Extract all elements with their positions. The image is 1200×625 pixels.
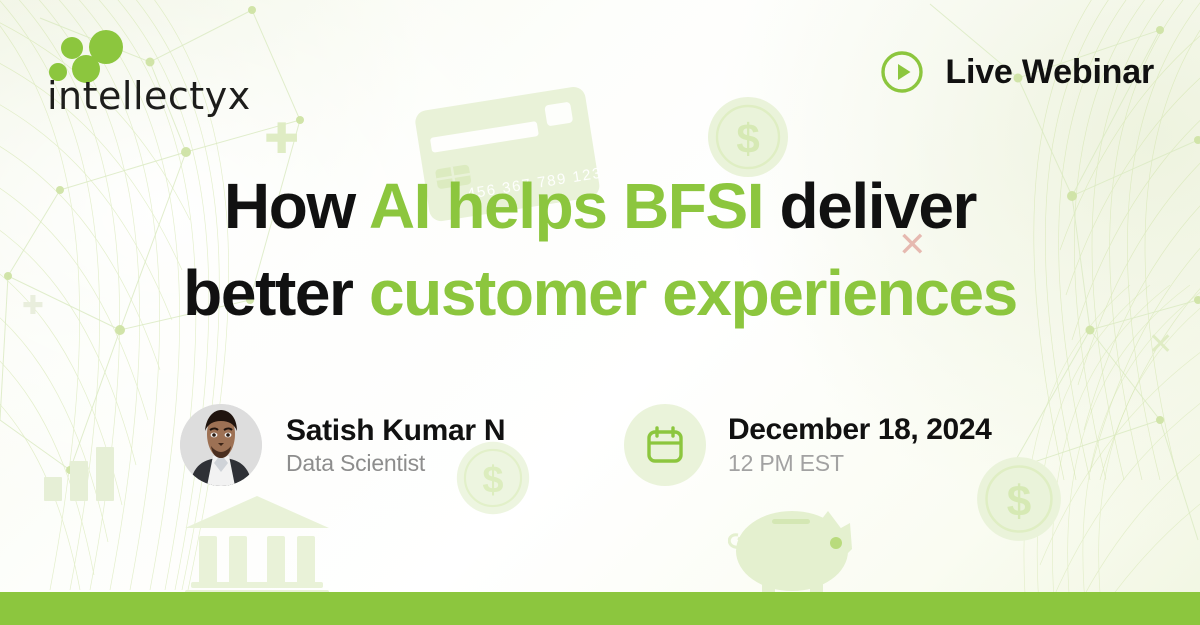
headline-seg-better: better: [183, 257, 369, 329]
headline-seg-deliver: deliver: [763, 170, 976, 242]
webinar-banner: 456 367 789 123 $ $ $: [0, 0, 1200, 625]
calendar-icon: [645, 425, 685, 465]
brand-logo[interactable]: intellectyx: [44, 30, 284, 112]
play-circle-icon: [880, 50, 924, 94]
headline-line-1: How AI helps BFSI deliver: [0, 163, 1200, 250]
calendar-icon-circle: [624, 404, 706, 486]
headline-seg-ai-bfsi: AI helps BFSI: [369, 170, 763, 242]
avatar: [180, 404, 262, 486]
plus-mark-icon: ✚: [264, 118, 299, 160]
headline-seg-customer-experiences: customer experiences: [369, 257, 1017, 329]
svg-text:$: $: [1007, 477, 1031, 526]
svg-text:$: $: [736, 115, 759, 162]
bottom-accent-bar: [0, 592, 1200, 625]
webinar-date: December 18, 2024: [728, 413, 991, 447]
speaker-portrait-avatar-icon: [180, 404, 262, 486]
speaker-block: Satish Kumar N Data Scientist: [180, 404, 505, 486]
headline-line-2: better customer experiences: [0, 250, 1200, 337]
headline-seg-how: How: [224, 170, 369, 242]
speaker-text: Satish Kumar N Data Scientist: [286, 414, 505, 477]
schedule-block: December 18, 2024 12 PM EST: [624, 404, 991, 486]
speaker-role: Data Scientist: [286, 450, 505, 477]
webinar-time: 12 PM EST: [728, 450, 991, 477]
schedule-text: December 18, 2024 12 PM EST: [728, 413, 991, 477]
speaker-name: Satish Kumar N: [286, 414, 505, 448]
live-webinar-label: Live Webinar: [945, 53, 1154, 92]
headline: How AI helps BFSI deliver better custome…: [0, 163, 1200, 337]
live-webinar-badge: Live Webinar: [880, 50, 1154, 94]
brand-logo-text: intellectyx: [47, 74, 251, 118]
bar-chart-icon: [44, 445, 116, 503]
bank-building-icon: [183, 494, 331, 594]
piggy-bank-icon: [728, 505, 878, 600]
